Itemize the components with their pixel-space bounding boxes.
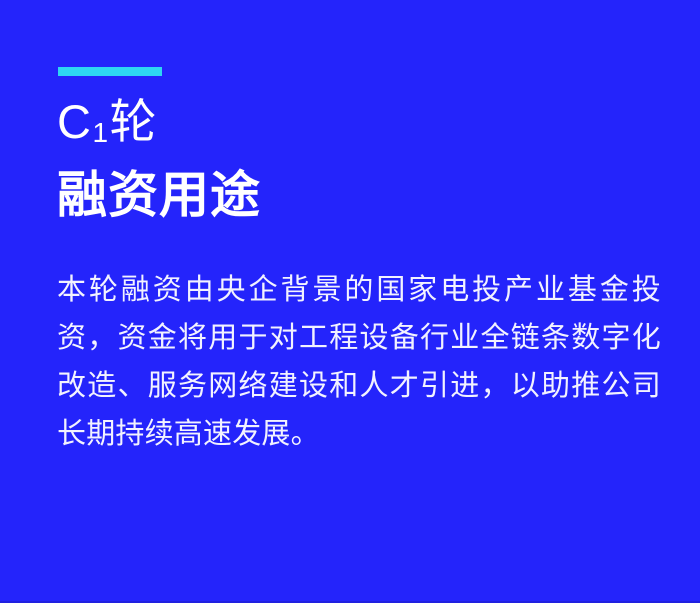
round-subscript: 1 xyxy=(91,117,109,148)
body-paragraph: 本轮融资由央企背景的国家电投产业基金投资，资金将用于对工程设备行业全链条数字化改… xyxy=(57,266,661,458)
page-title: 融资用途 xyxy=(57,164,657,226)
accent-bar xyxy=(58,67,162,76)
title-block: C1轮 融资用途 xyxy=(57,93,657,226)
body-copy: 本轮融资由央企背景的国家电投产业基金投资，资金将用于对工程设备行业全链条数字化改… xyxy=(57,266,661,458)
round-prefix: C xyxy=(57,95,91,148)
round-label: C1轮 xyxy=(57,93,657,158)
funding-use-slide: C1轮 融资用途 本轮融资由央企背景的国家电投产业基金投资，资金将用于对工程设备… xyxy=(0,0,700,603)
round-suffix: 轮 xyxy=(110,95,158,148)
